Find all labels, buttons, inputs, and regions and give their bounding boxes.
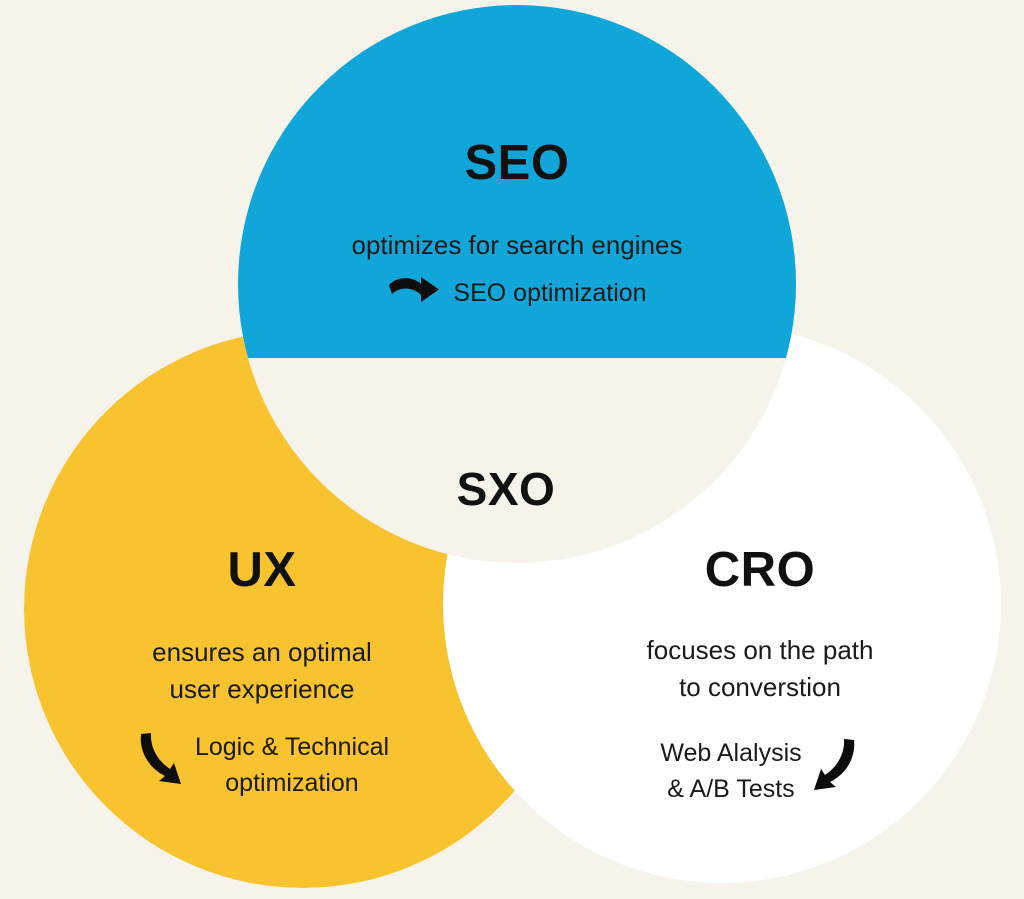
sxo-venn-diagram: SEO optimizes for search engines SEO opt… xyxy=(0,0,1024,899)
venn-shapes-layer xyxy=(0,0,1024,899)
ux-lobe-shape xyxy=(24,330,582,888)
